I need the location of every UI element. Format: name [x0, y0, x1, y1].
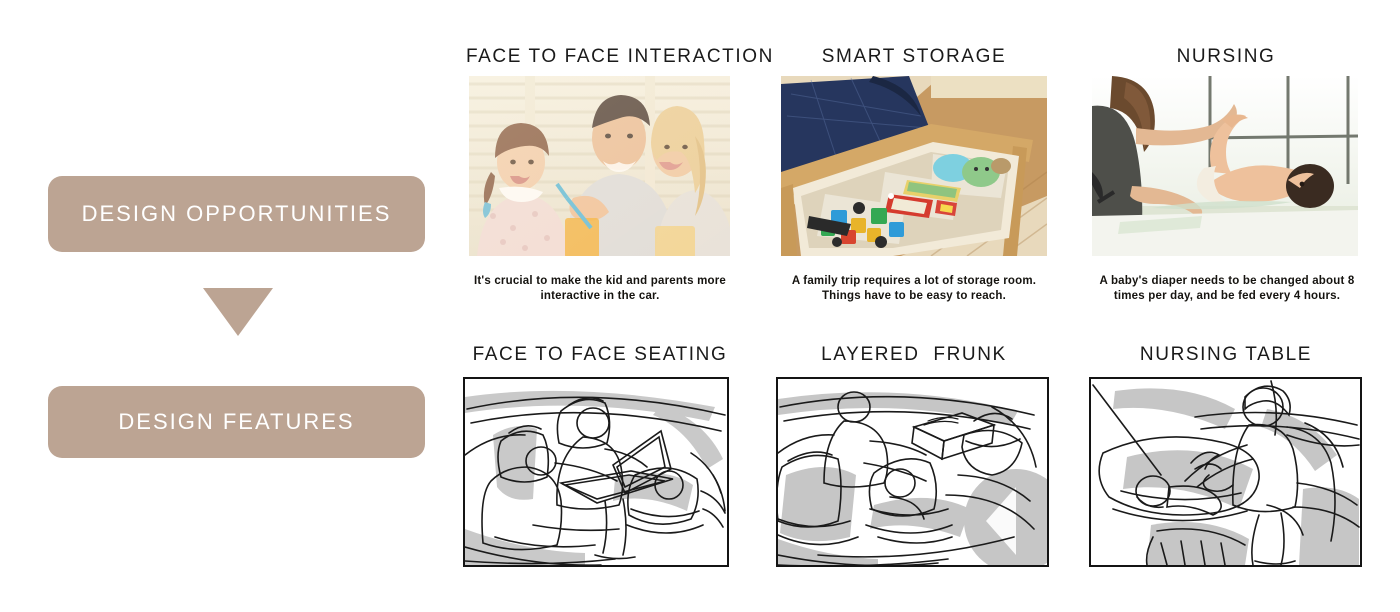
header-layered-frunk: LAYERED FRUNK: [778, 344, 1050, 366]
layered-frunk-sketch: [776, 377, 1049, 567]
mother-changing-baby-photo: [1092, 76, 1358, 256]
header-nursing-table: NURSING TABLE: [1088, 344, 1364, 366]
slide-canvas: DESIGN OPPORTUNITIES DESIGN FEATURES FAC…: [0, 0, 1400, 612]
caption-face-to-face-interaction: It's crucial to make the kid and parents…: [465, 274, 735, 304]
header-face-to-face-interaction: FACE TO FACE INTERACTION: [466, 46, 734, 68]
design-opportunities-text: DESIGN OPPORTUNITIES: [82, 201, 392, 227]
header-face-to-face-seating: FACE TO FACE SEATING: [466, 344, 734, 366]
design-opportunities-label: DESIGN OPPORTUNITIES: [48, 176, 425, 252]
nursing-table-sketch: [1089, 377, 1362, 567]
family-interaction-photo: [469, 76, 730, 256]
header-nursing: NURSING: [1088, 46, 1364, 68]
caption-smart-storage: A family trip requires a lot of storage …: [778, 274, 1050, 304]
caption-nursing: A baby's diaper needs to be changed abou…: [1088, 274, 1366, 304]
design-features-label: DESIGN FEATURES: [48, 386, 425, 458]
design-features-text: DESIGN FEATURES: [118, 409, 354, 435]
face-to-face-seating-sketch: [463, 377, 729, 567]
triangle-down-icon: [203, 288, 273, 336]
under-bed-storage-drawer-photo: [781, 76, 1047, 256]
header-smart-storage: SMART STORAGE: [778, 46, 1050, 68]
